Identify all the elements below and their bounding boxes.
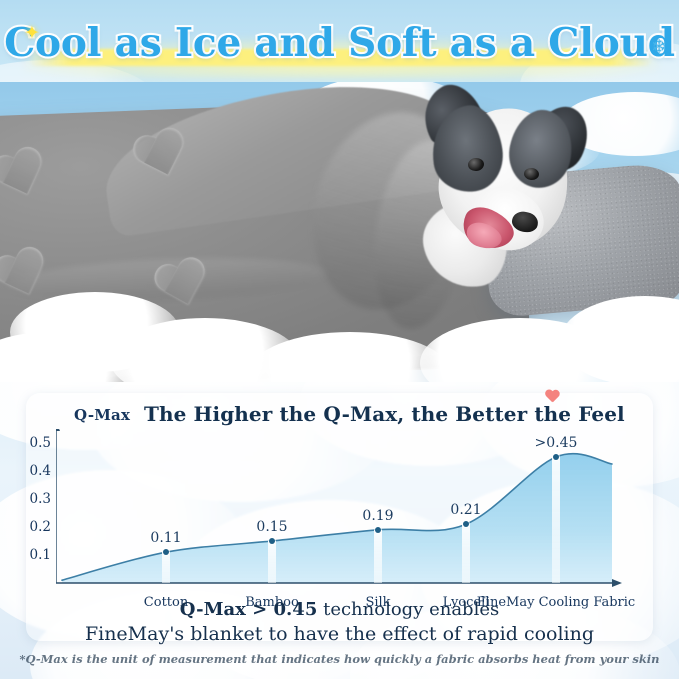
statement-bold: Q-Max > 0.45 bbox=[180, 599, 318, 620]
y-tick-label: 0.4 bbox=[30, 463, 51, 479]
chart-data-point[interactable] bbox=[163, 549, 169, 555]
footnote: *Q-Max is the unit of measurement that i… bbox=[0, 652, 679, 666]
page-title: Cool as Ice and Soft as a Cloud bbox=[4, 20, 675, 66]
heart-icon bbox=[545, 390, 560, 404]
chart-data-label: 0.15 bbox=[256, 519, 287, 535]
product-photo bbox=[0, 82, 679, 382]
statement-block: Q-Max > 0.45 technology enables FineMay'… bbox=[26, 598, 653, 647]
statement-line-1: Q-Max > 0.45 technology enables bbox=[26, 598, 653, 622]
y-tick-label: 0.1 bbox=[30, 547, 51, 563]
dog-photo bbox=[406, 84, 616, 294]
header-title-bar: Cool as Ice and Soft as a Cloud bbox=[0, 12, 679, 74]
y-tick-label: 0.3 bbox=[30, 491, 51, 507]
chart-data-label: >0.45 bbox=[535, 435, 578, 451]
statement-line-2: FineMay's blanket to have the effect of … bbox=[26, 622, 653, 647]
infographic-page: Cool as Ice and Soft as a Cloud ✦ ❄ bbox=[0, 0, 679, 679]
chart-data-point[interactable] bbox=[463, 521, 469, 527]
sparkle-icon: ✦ bbox=[24, 22, 40, 45]
chart-data-label: 0.11 bbox=[150, 530, 181, 546]
y-axis-title: Q-Max bbox=[74, 406, 130, 424]
chart-data-label: 0.19 bbox=[362, 508, 393, 524]
chart-data-point[interactable] bbox=[375, 527, 381, 533]
y-tick-label: 0.2 bbox=[30, 519, 51, 535]
chart-value-bar bbox=[374, 530, 382, 583]
snowflake-icon: ❄ bbox=[651, 36, 667, 59]
qmax-chart: 0.10.20.30.40.50.11Cotton0.15Bamboo0.19S… bbox=[56, 429, 626, 589]
chart-value-bar bbox=[552, 457, 560, 583]
chart-data-point[interactable] bbox=[553, 454, 559, 460]
chart-data-point[interactable] bbox=[269, 538, 275, 544]
chart-data-label: 0.21 bbox=[450, 502, 481, 518]
statement-rest: technology enables bbox=[317, 599, 499, 620]
chart-value-bar bbox=[268, 541, 276, 583]
chart-title: The Higher the Q-Max, the Better the Fee… bbox=[144, 402, 625, 426]
chart-value-bar bbox=[162, 552, 170, 583]
y-tick-label: 0.5 bbox=[30, 435, 51, 451]
chart-value-bar bbox=[462, 524, 470, 583]
heart-quilt-pattern bbox=[0, 143, 54, 207]
chart-panel: Q-Max The Higher the Q-Max, the Better t… bbox=[26, 393, 653, 641]
